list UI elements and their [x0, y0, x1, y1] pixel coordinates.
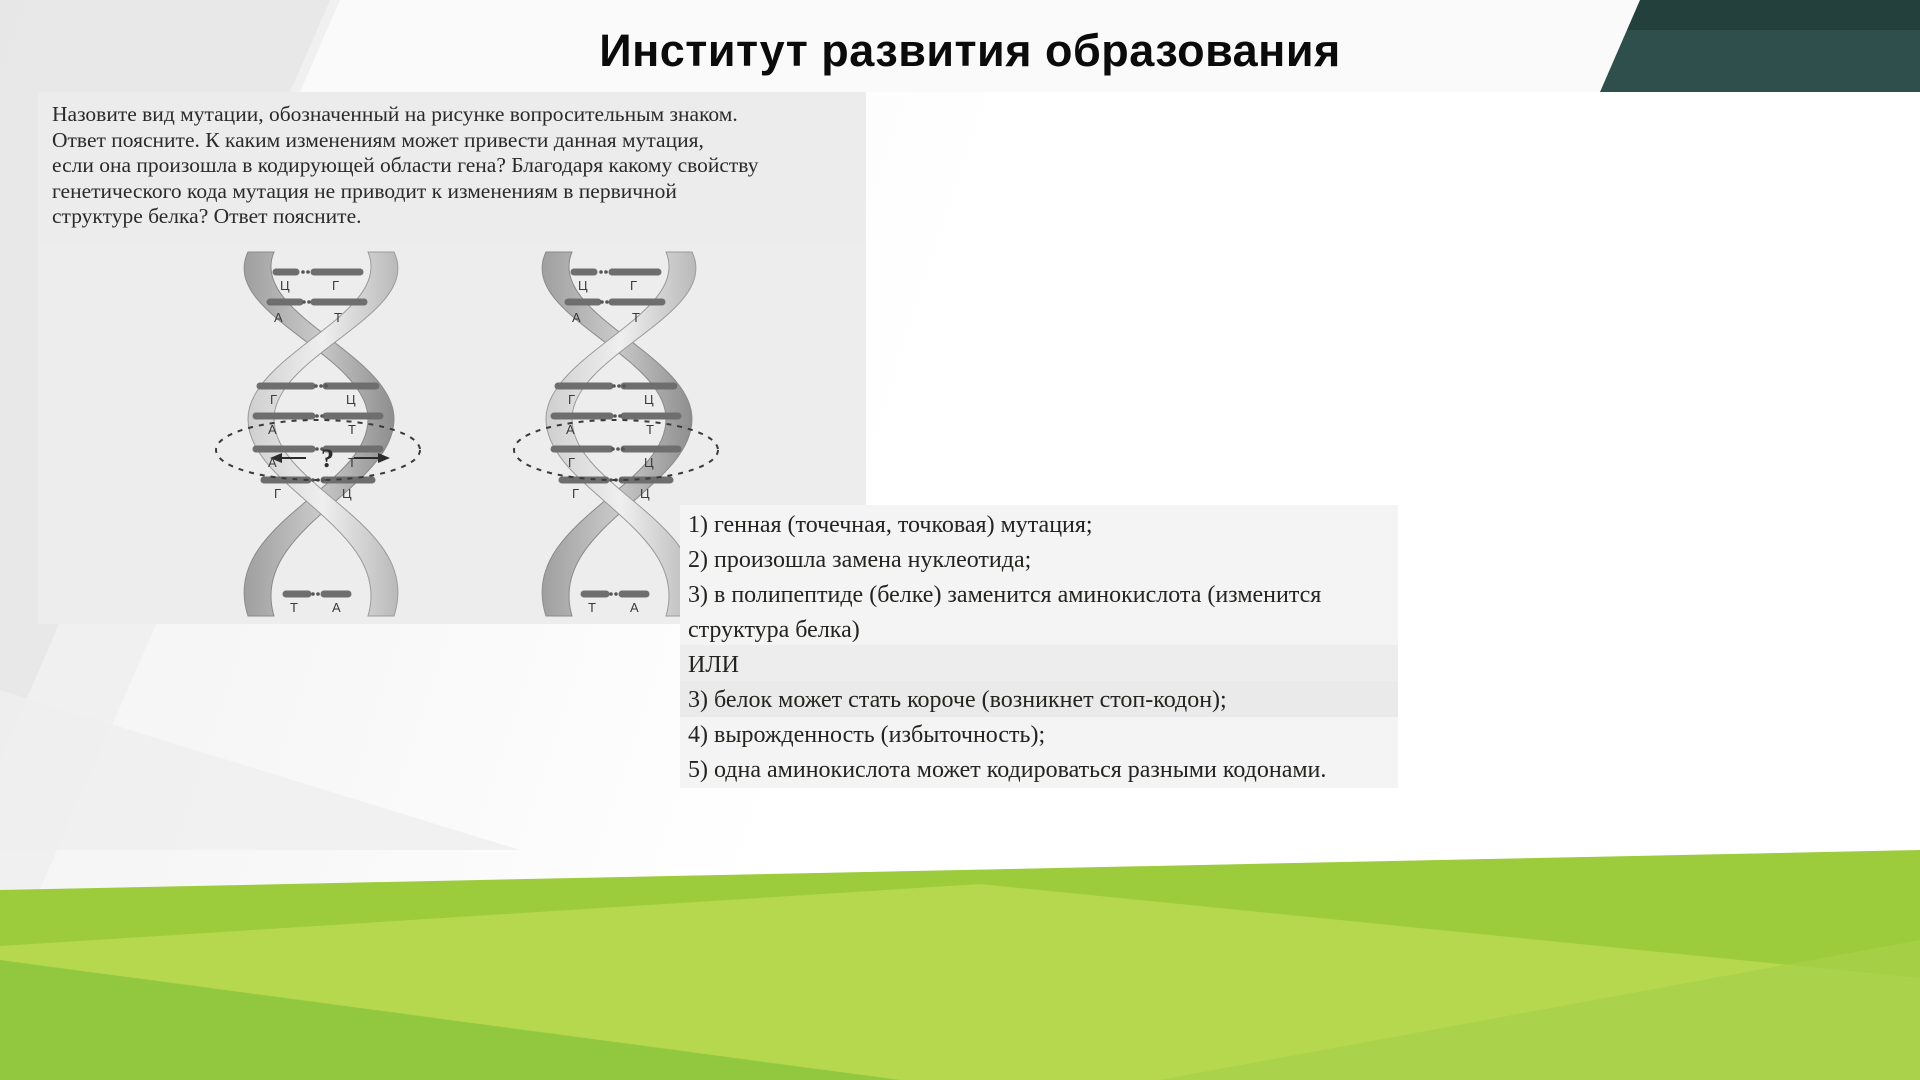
page-title: Институт развития образования: [300, 18, 1640, 84]
answer-text-inner: 1) генная (точечная, точковая) мутация; …: [680, 505, 1398, 788]
answer-lines: 1) генная (точечная, точковая) мутация; …: [688, 508, 1398, 788]
nucleotide-label: А: [332, 600, 341, 615]
answer-line-1: 1) генная (точечная, точковая) мутация;: [688, 508, 1398, 543]
nucleotide-label: Ц: [578, 278, 588, 293]
question-line-3: если она произошла в кодирующей области …: [52, 153, 852, 179]
nucleotide-label: Ц: [640, 486, 650, 501]
nucleotide-label: А: [274, 310, 283, 325]
answer-line-3: 3) в полипептиде (белке) заменится амино…: [688, 578, 1398, 613]
nucleotide-label: А: [572, 310, 581, 325]
nucleotide-label: Г: [270, 392, 277, 407]
nucleotide-label: Ц: [342, 486, 352, 501]
answer-line-5: 3) белок может стать короче (возникнет с…: [688, 683, 1398, 718]
nucleotide-label: Т: [632, 310, 640, 325]
nucleotide-label: Г: [572, 486, 579, 501]
answer-line-7: 5) одна аминокислота может кодироваться …: [688, 753, 1398, 788]
nucleotide-label: А: [268, 422, 277, 437]
answer-line-4: структура белка): [688, 613, 1398, 648]
question-mark-icon: ?: [321, 444, 334, 473]
answer-line-2: 2) произошла замена нуклеотида;: [688, 543, 1398, 578]
nucleotide-label: Т: [588, 600, 596, 615]
nucleotide-label: Г: [568, 455, 575, 470]
nucleotide-label: А: [630, 600, 639, 615]
question-line-5: структуре белка? Ответ поясните.: [52, 204, 852, 230]
question-line-4: генетического кода мутация не приводит к…: [52, 179, 852, 205]
question-text-block: Назовите вид мутации, обозначенный на ри…: [38, 92, 866, 244]
nucleotide-label: Ц: [644, 455, 654, 470]
question-line-1: Назовите вид мутации, обозначенный на ри…: [52, 102, 852, 128]
nucleotide-label: Ц: [280, 278, 290, 293]
nucleotide-label: Т: [290, 600, 298, 615]
answer-line-or: ИЛИ: [688, 648, 1398, 683]
nucleotide-label: Г: [274, 486, 281, 501]
nucleotide-label: Г: [630, 278, 637, 293]
nucleotide-label: А: [566, 422, 575, 437]
question-line-2: Ответ поясните. К каким изменениям может…: [52, 128, 852, 154]
nucleotide-label: Г: [568, 392, 575, 407]
answer-line-6: 4) вырожденность (избыточность);: [688, 718, 1398, 753]
nucleotide-label: Г: [332, 278, 339, 293]
nucleotide-label: Т: [646, 422, 654, 437]
answer-text-block: 1) генная (точечная, точковая) мутация; …: [680, 505, 1398, 788]
nucleotide-label: Т: [348, 422, 356, 437]
nucleotide-label: Ц: [346, 392, 356, 407]
nucleotide-label: Ц: [644, 392, 654, 407]
nucleotide-label: Т: [334, 310, 342, 325]
